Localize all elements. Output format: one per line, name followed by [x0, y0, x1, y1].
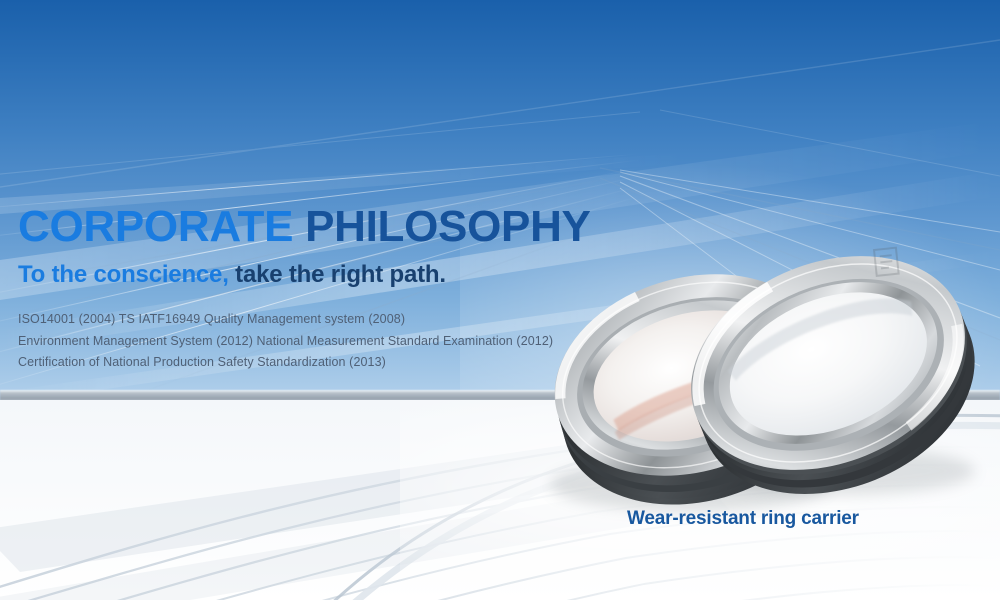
page-subtitle: To the conscience, take the right path. [18, 263, 638, 287]
corporate-philosophy-banner: CORPORATE PHILOSOPHY To the conscience, … [0, 0, 1000, 600]
headline-word-philosophy: PHILOSOPHY [305, 202, 591, 251]
product-caption: Wear-resistant ring carrier [627, 508, 859, 530]
list-item: ISO14001 (2004) TS IATF16949 Quality Man… [18, 309, 638, 331]
page-title: CORPORATE PHILOSOPHY [18, 205, 638, 249]
certification-list: ISO14001 (2004) TS IATF16949 Quality Man… [18, 309, 638, 374]
subtitle-part-right-path: take the right path. [235, 261, 446, 288]
list-item: Environment Management System (2012) Nat… [18, 331, 638, 353]
list-item: Certification of National Production Saf… [18, 352, 638, 374]
headline-word-corporate: CORPORATE [18, 202, 293, 251]
subtitle-part-conscience: To the conscience, [18, 261, 229, 288]
philosophy-copy-block: CORPORATE PHILOSOPHY To the conscience, … [18, 205, 638, 374]
